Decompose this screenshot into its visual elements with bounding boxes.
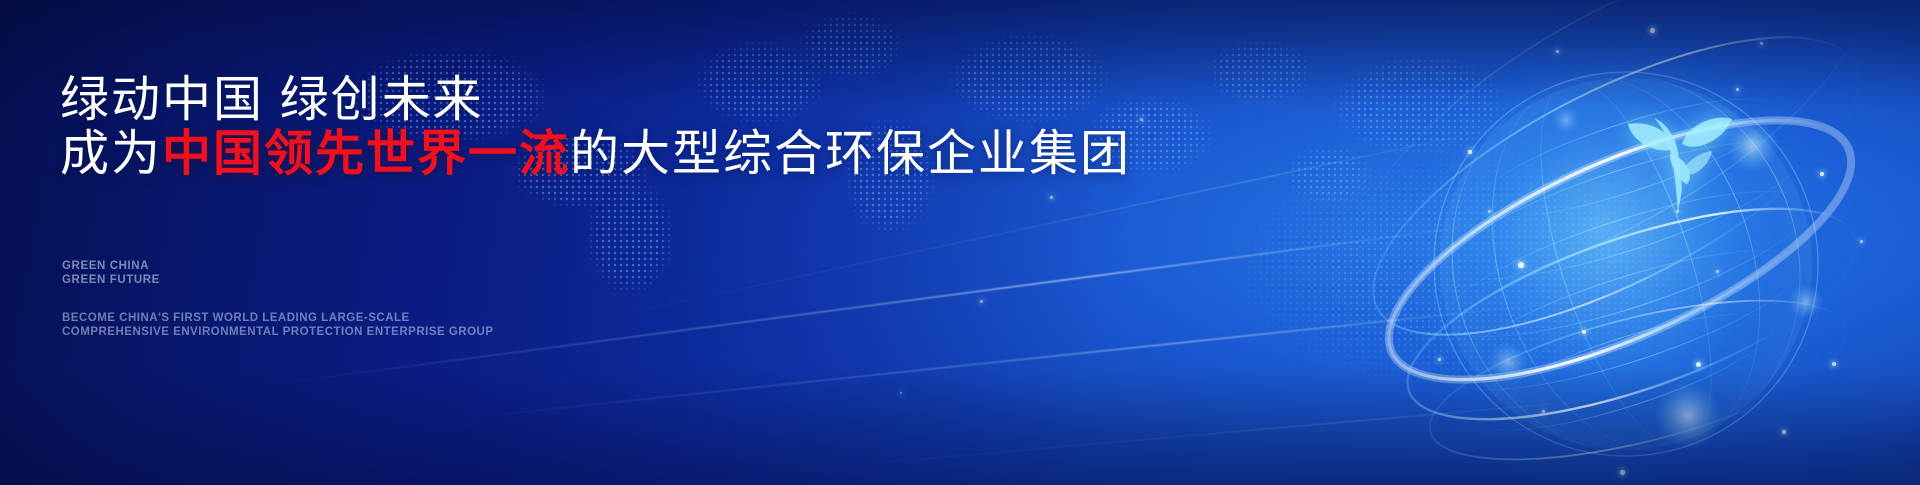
slogan-english: GREEN CHINA GREEN FUTURE <box>62 259 160 287</box>
banner-text-block: 绿动中国 绿创未来 成为中国领先世界一流的大型综合环保企业集团 GREEN CH… <box>60 0 1060 485</box>
headline-line-1: 绿动中国 绿创未来 <box>60 76 484 125</box>
headline-line-2: 成为中国领先世界一流的大型综合环保企业集团 <box>60 130 1131 179</box>
hero-banner: 绿动中国 绿创未来 成为中国领先世界一流的大型综合环保企业集团 GREEN CH… <box>0 0 1920 485</box>
slogan-english-line-1: GREEN CHINA <box>62 259 160 273</box>
tagline-english: BECOME CHINA'S FIRST WORLD LEADING LARGE… <box>62 311 494 339</box>
tagline-english-line-1: BECOME CHINA'S FIRST WORLD LEADING LARGE… <box>62 311 494 325</box>
headline-line-2-suffix: 的大型综合环保企业集团 <box>570 127 1131 181</box>
slogan-english-line-2: GREEN FUTURE <box>62 273 160 287</box>
headline-line-2-prefix: 成为 <box>60 127 162 181</box>
headline-line-2-highlight: 中国领先世界一流 <box>162 127 570 181</box>
tagline-english-line-2: COMPREHENSIVE ENVIRONMENTAL PROTECTION E… <box>62 325 494 339</box>
